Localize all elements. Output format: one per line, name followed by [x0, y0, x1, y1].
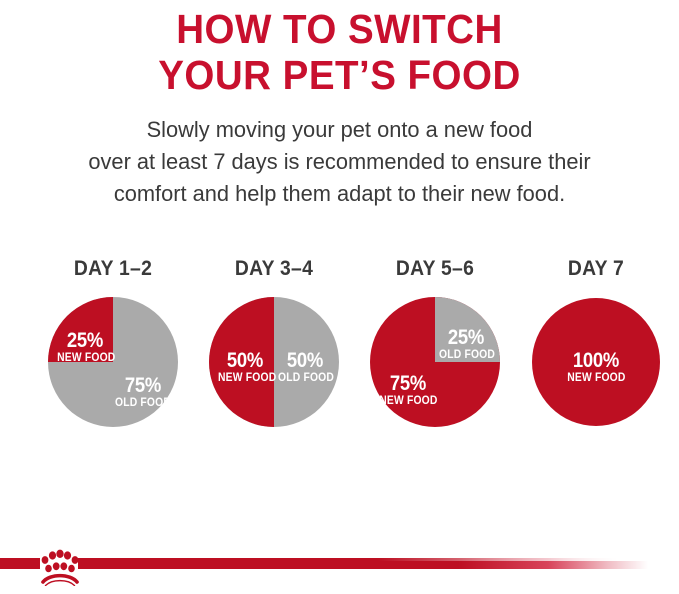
page-title-line-1: HOW TO SWITCH [20, 6, 658, 52]
pie-graphic: 50% NEW FOOD 50% OLD FOOD [209, 297, 339, 427]
pie-chart-day-1-2: DAY 1–2 25% NEW FOOD 75% OLD FOOD [33, 258, 193, 448]
pie-slice-old-food [435, 297, 500, 362]
pie-chart-day-5-6: DAY 5–6 75% NEW FOOD 25% OLD FOOD [355, 258, 515, 448]
pie-chart-row: DAY 1–2 25% NEW FOOD 75% OLD FOOD DAY 3–… [0, 258, 679, 448]
pie-slice-new-food [48, 297, 113, 362]
pie-svg-day-1-2 [48, 297, 178, 427]
pie-graphic: 75% NEW FOOD 25% OLD FOOD [370, 297, 500, 427]
pie-chart-day-3-4: DAY 3–4 50% NEW FOOD 50% OLD FOOD [194, 258, 354, 448]
footer-rule-right [78, 558, 679, 569]
intro-paragraph: Slowly moving your pet onto a new food o… [10, 114, 669, 210]
pie-day-label: DAY 7 [522, 258, 669, 280]
pie-svg-day-5-6 [370, 297, 500, 427]
pie-day-label: DAY 5–6 [361, 258, 508, 280]
pie-day-label: DAY 3–4 [200, 258, 347, 280]
pie-svg-day-3-4 [209, 297, 339, 427]
intro-line-1: Slowly moving your pet onto a new food [10, 114, 669, 146]
pie-day-label: DAY 1–2 [39, 258, 186, 280]
pie-chart-day-7: DAY 7 100% NEW FOOD [516, 258, 676, 448]
footer [0, 530, 679, 594]
page-title-line-2: YOUR PET’S FOOD [20, 52, 658, 98]
pie-graphic: 100% NEW FOOD [531, 297, 661, 427]
pie-slice-new-food [532, 298, 660, 426]
footer-rule-left [0, 558, 40, 569]
intro-line-2: over at least 7 days is recommended to e… [10, 146, 669, 178]
intro-line-3: comfort and help them adapt to their new… [10, 178, 669, 210]
pie-slice-new-food [209, 297, 274, 427]
pie-graphic: 25% NEW FOOD 75% OLD FOOD [48, 297, 178, 427]
pie-svg-day-7 [531, 297, 661, 427]
royal-canin-crown-logo-icon [36, 538, 84, 586]
page-title: HOW TO SWITCH YOUR PET’S FOOD [20, 0, 658, 98]
